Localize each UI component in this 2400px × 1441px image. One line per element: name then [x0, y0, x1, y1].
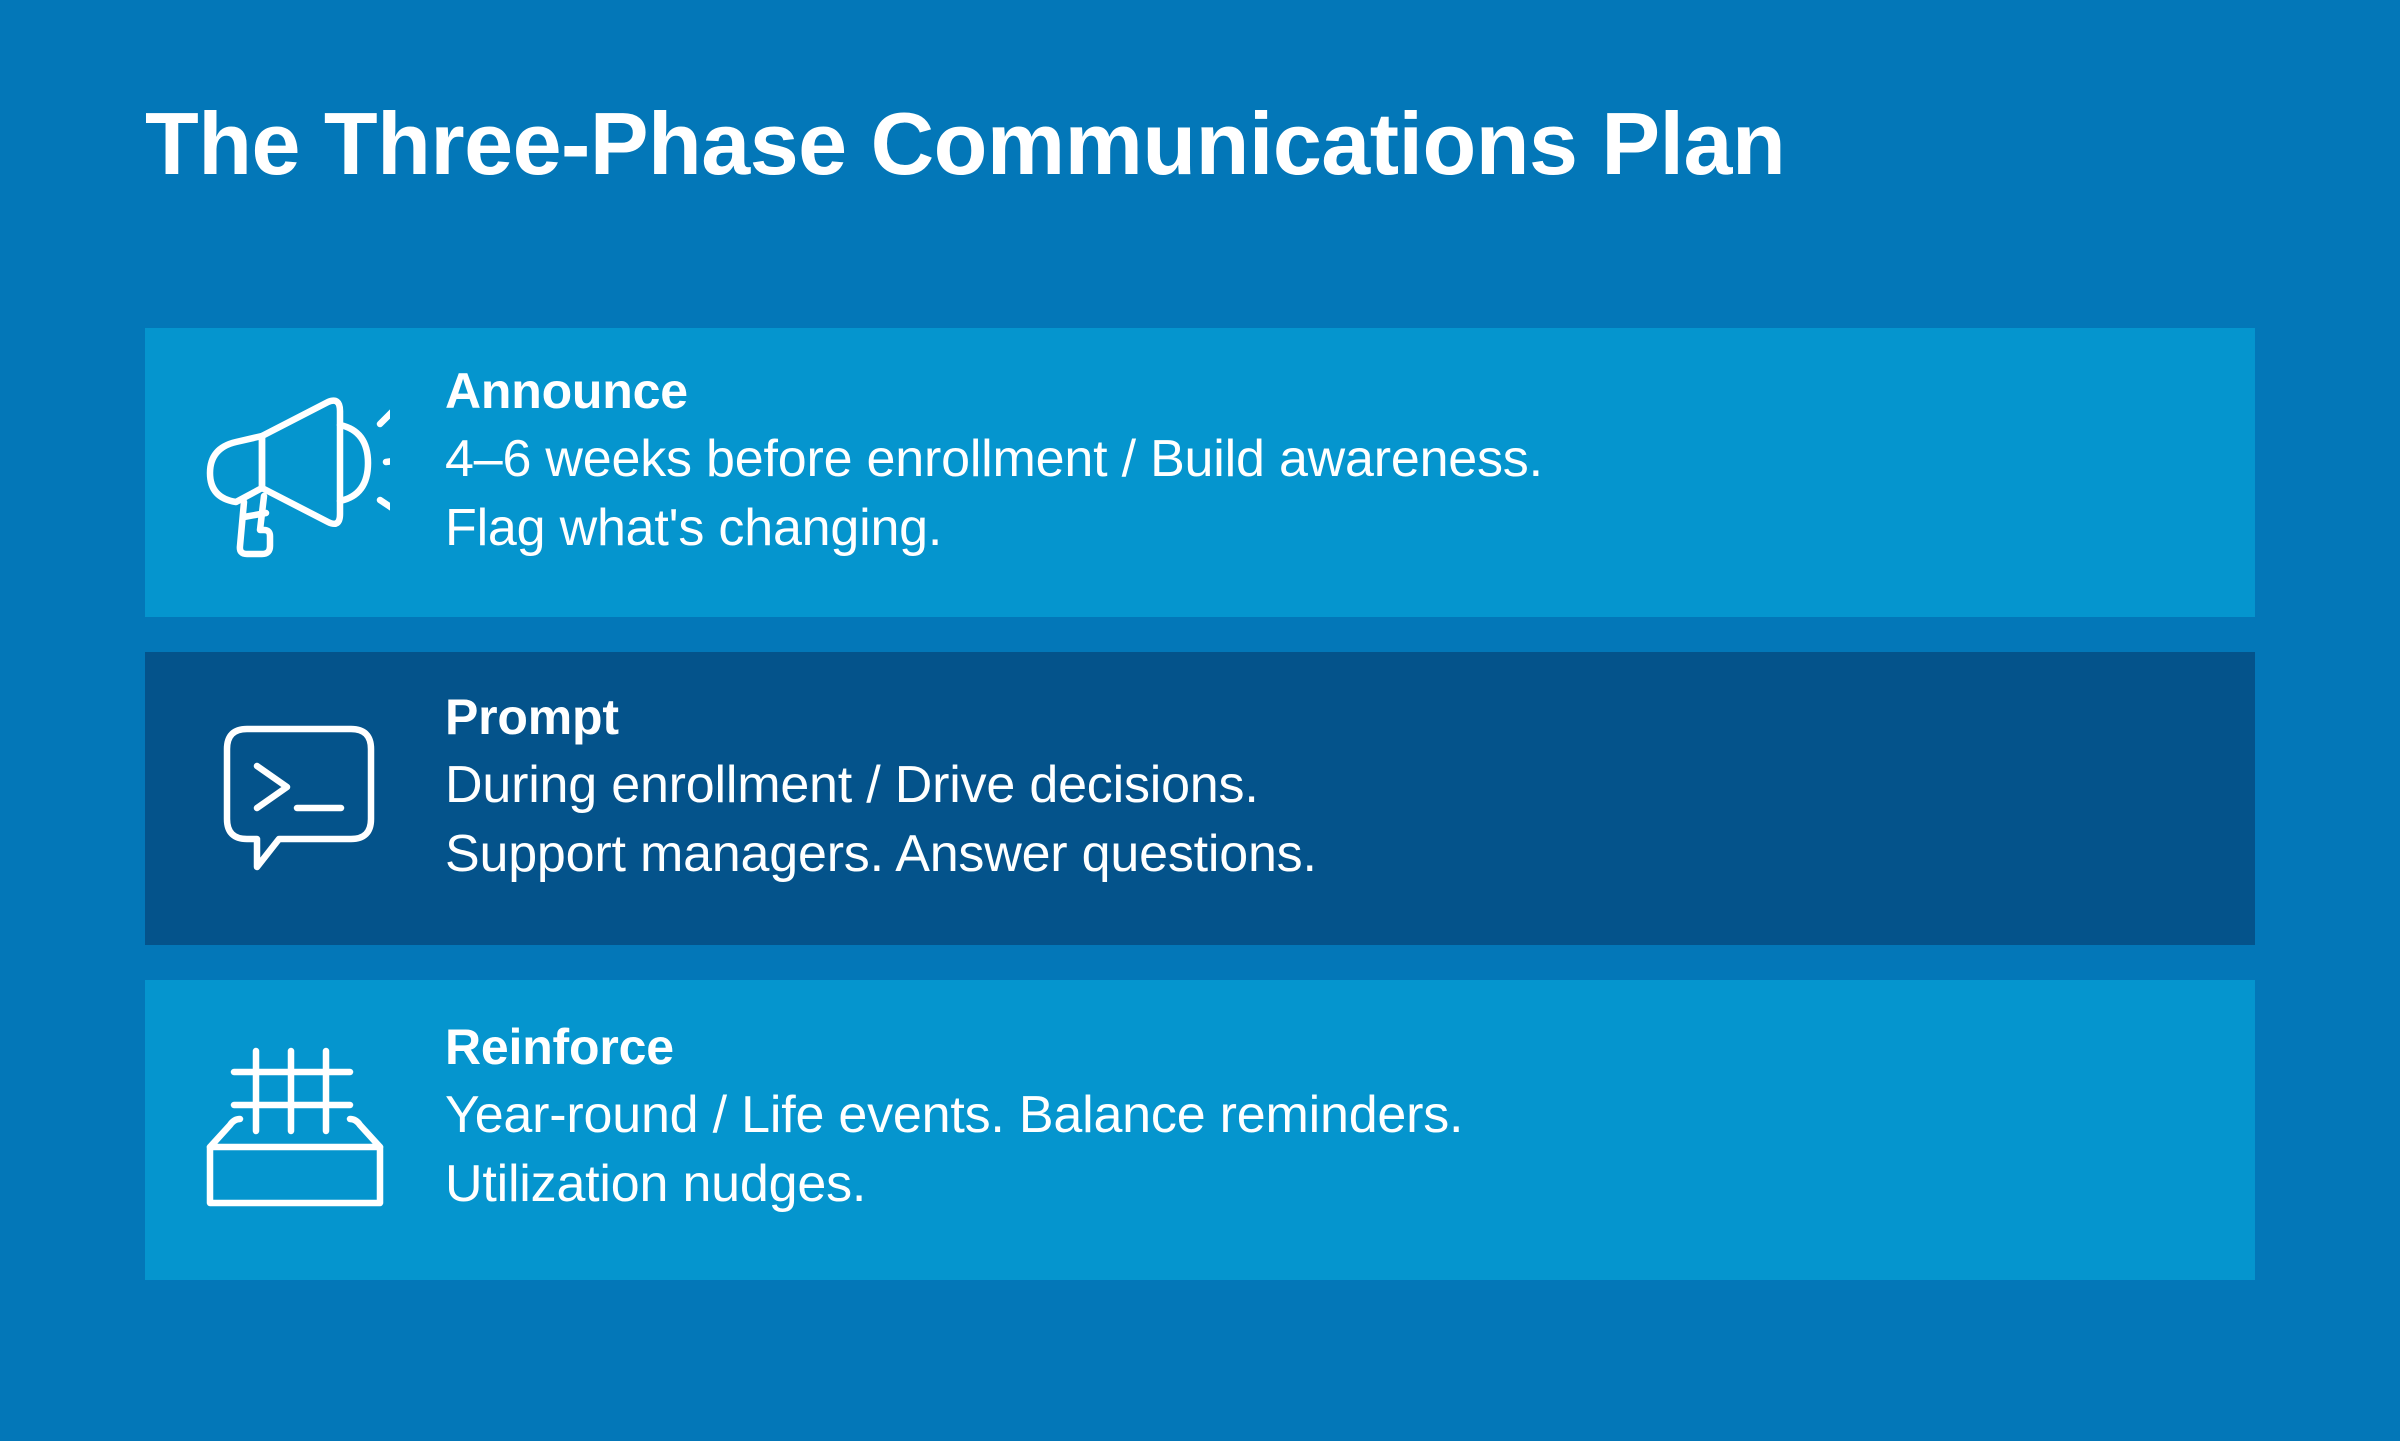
page-title: The Three-Phase Communications Plan	[145, 98, 1785, 190]
phase-text-prompt: Prompt During enrollment / Drive decisio…	[445, 652, 2255, 888]
phase-label: Announce	[445, 362, 2195, 421]
slide-root: The Three-Phase Communications Plan	[0, 0, 2400, 1441]
phase-description-line-1: During enrollment / Drive decisions.	[445, 751, 2195, 820]
chat-terminal-icon	[145, 709, 445, 889]
phase-description-line-2: Support managers. Answer questions.	[445, 820, 2195, 889]
phase-list: Announce 4–6 weeks before enrollment / B…	[145, 328, 2255, 1280]
megaphone-icon	[145, 378, 445, 568]
phase-label: Prompt	[445, 688, 2195, 747]
phase-description-line-1: 4–6 weeks before enrollment / Build awar…	[445, 425, 2195, 494]
reinforcement-grid-icon	[145, 1037, 445, 1223]
phase-text-reinforce: Reinforce Year-round / Life events. Bala…	[445, 980, 2255, 1218]
phase-description-line-2: Utilization nudges.	[445, 1150, 2195, 1219]
phase-label: Reinforce	[445, 1018, 2195, 1077]
phase-text-announce: Announce 4–6 weeks before enrollment / B…	[445, 328, 2255, 562]
phase-description-line-2: Flag what's changing.	[445, 494, 2195, 563]
phase-row-reinforce[interactable]: Reinforce Year-round / Life events. Bala…	[145, 980, 2255, 1280]
phase-description-line-1: Year-round / Life events. Balance remind…	[445, 1081, 2195, 1150]
phase-row-announce[interactable]: Announce 4–6 weeks before enrollment / B…	[145, 328, 2255, 617]
phase-row-prompt[interactable]: Prompt During enrollment / Drive decisio…	[145, 652, 2255, 945]
